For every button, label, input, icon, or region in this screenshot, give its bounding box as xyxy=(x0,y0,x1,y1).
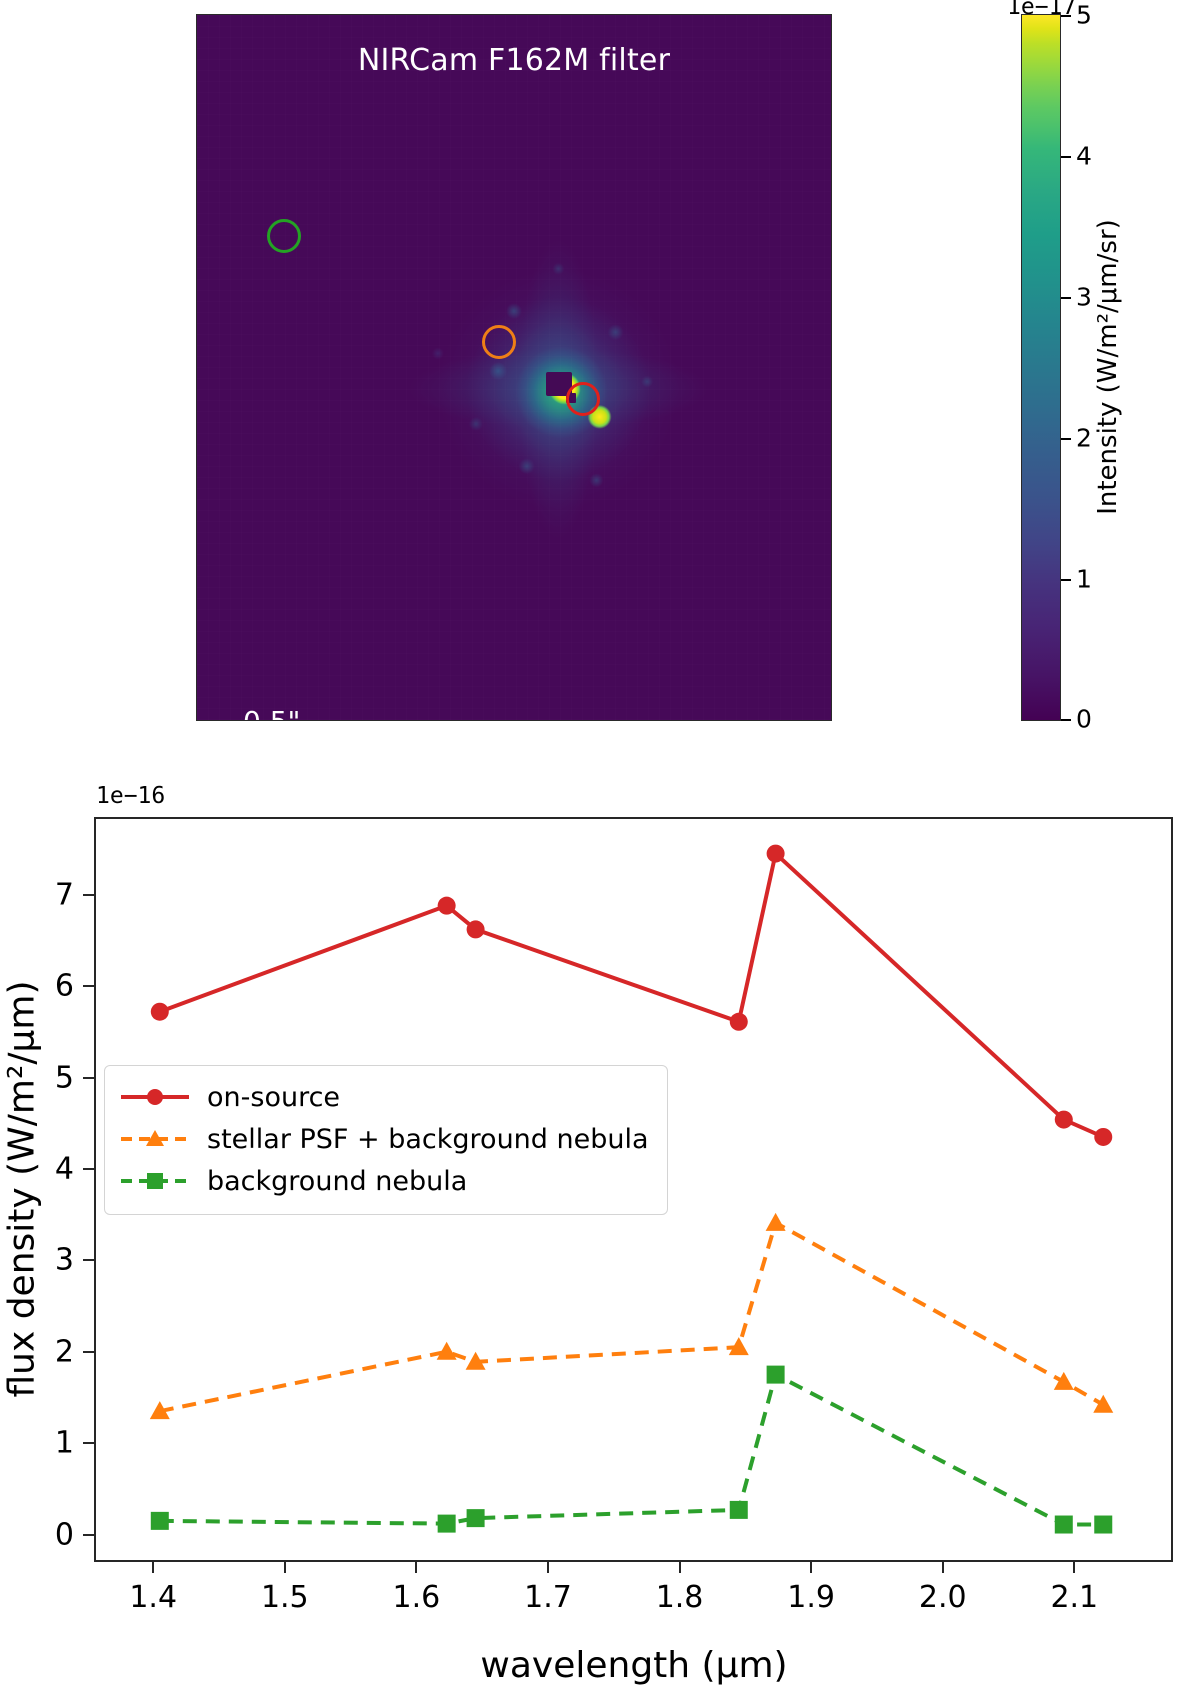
y-axis-tick-label: 0 xyxy=(22,1517,74,1552)
data-point xyxy=(1093,1395,1113,1413)
colorbar-gradient xyxy=(1021,14,1061,721)
y-axis-tick xyxy=(83,894,94,896)
legend-label: on-source xyxy=(207,1082,340,1113)
colorbar-tick xyxy=(1061,579,1071,581)
legend-label: background nebula xyxy=(207,1166,467,1197)
legend-item-background-nebula[interactable]: background nebula xyxy=(119,1160,649,1202)
data-point xyxy=(151,1512,169,1530)
y-axis-tick xyxy=(83,1534,94,1536)
colorbar-tick-label: 3 xyxy=(1076,283,1092,312)
data-point xyxy=(437,1342,457,1360)
data-point xyxy=(1094,1516,1112,1534)
y-axis-tick-label: 1 xyxy=(22,1426,74,1461)
legend-label: stellar PSF + background nebula xyxy=(207,1124,649,1155)
data-point xyxy=(1094,1128,1112,1146)
data-point xyxy=(467,1509,485,1527)
y-axis-tick-label: 4 xyxy=(22,1151,74,1186)
x-axis-tick-label: 1.5 xyxy=(261,1580,309,1615)
on-source-aperture-circle xyxy=(566,382,600,416)
y-axis-tick xyxy=(83,1442,94,1444)
x-axis-tick xyxy=(547,1562,549,1573)
x-axis-tick-label: 1.6 xyxy=(393,1580,441,1615)
y-axis-tick-label: 7 xyxy=(22,877,74,912)
y-axis-tick-label: 3 xyxy=(22,1243,74,1278)
colorbar-tick xyxy=(1061,15,1071,17)
colorbar-axis-label: Intensity (W/m²/μm/sr) xyxy=(1093,219,1123,515)
colorbar-tick xyxy=(1061,156,1071,158)
x-axis-tick xyxy=(415,1562,417,1573)
data-point xyxy=(766,1213,786,1231)
x-axis-tick xyxy=(1073,1562,1075,1573)
x-axis-tick xyxy=(679,1562,681,1573)
data-point xyxy=(438,1515,456,1533)
data-point xyxy=(1055,1516,1073,1534)
legend-swatch-background-nebula xyxy=(119,1168,191,1194)
data-point xyxy=(467,920,485,938)
x-axis-tick xyxy=(810,1562,812,1573)
y-axis-tick xyxy=(83,985,94,987)
colorbar-tick-label: 1 xyxy=(1076,565,1092,594)
x-axis-tick xyxy=(152,1562,154,1573)
legend-item-stellar-psf[interactable]: stellar PSF + background nebula xyxy=(119,1118,649,1160)
x-axis-tick-label: 2.1 xyxy=(1050,1580,1098,1615)
x-axis-tick-label: 1.7 xyxy=(524,1580,572,1615)
image-axes: NIRCam F162M filter 0.5" xyxy=(196,14,832,721)
colorbar-tick xyxy=(1061,438,1071,440)
data-point xyxy=(151,1003,169,1021)
y-axis-tick xyxy=(83,1077,94,1079)
background-nebula-aperture-circle xyxy=(267,219,301,253)
y-axis-tick xyxy=(83,1351,94,1353)
scalebar-label: 0.5" xyxy=(243,705,300,721)
data-point xyxy=(767,1366,785,1384)
series-stellar-psf-background-nebula xyxy=(150,1213,1113,1419)
colorbar-tick xyxy=(1061,297,1071,299)
colorbar-tick xyxy=(1061,719,1071,721)
colorbar-tick-label: 4 xyxy=(1076,142,1092,171)
nircam-image-panel: NIRCam F162M filter 0.5" 1e−17 5 4 3 2 1… xyxy=(0,0,1200,745)
series-background-nebula xyxy=(151,1366,1112,1534)
x-axis-tick-label: 1.9 xyxy=(787,1580,835,1615)
x-axis-tick xyxy=(942,1562,944,1573)
series-line xyxy=(160,1223,1103,1411)
legend-swatch-stellar-psf xyxy=(119,1126,191,1152)
x-axis-tick-label: 2.0 xyxy=(919,1580,967,1615)
series-line xyxy=(160,1375,1103,1525)
y-axis-offset-text: 1e−16 xyxy=(96,783,165,809)
y-axis-tick-label: 5 xyxy=(22,1060,74,1095)
data-point xyxy=(730,1501,748,1519)
image-title: NIRCam F162M filter xyxy=(197,43,831,78)
y-axis-tick xyxy=(83,1168,94,1170)
colorbar-tick-label: 0 xyxy=(1076,705,1092,734)
x-axis-tick xyxy=(284,1562,286,1573)
y-axis-tick xyxy=(83,1259,94,1261)
x-axis-label: wavelength (μm) xyxy=(480,1645,787,1686)
colorbar xyxy=(1021,14,1061,721)
pixel-noise-overlay xyxy=(197,15,831,720)
colorbar-tick-label: 5 xyxy=(1076,1,1092,30)
legend-item-on-source[interactable]: on-source xyxy=(119,1076,649,1118)
data-point xyxy=(1055,1111,1073,1129)
chart-legend: on-source stellar PSF + background nebul… xyxy=(104,1065,668,1215)
legend-swatch-on-source xyxy=(119,1084,191,1110)
y-axis-tick-label: 2 xyxy=(22,1334,74,1369)
data-point xyxy=(438,897,456,915)
data-point xyxy=(730,1013,748,1031)
colorbar-tick-label: 2 xyxy=(1076,424,1092,453)
flux-density-chart: 1e−16 flux density (W/m²/μm) wavelength … xyxy=(0,745,1200,1705)
x-axis-tick-label: 1.8 xyxy=(656,1580,704,1615)
data-point xyxy=(1054,1372,1074,1390)
data-point xyxy=(767,845,785,863)
y-axis-tick-label: 6 xyxy=(22,969,74,1004)
x-axis-tick-label: 1.4 xyxy=(129,1580,177,1615)
